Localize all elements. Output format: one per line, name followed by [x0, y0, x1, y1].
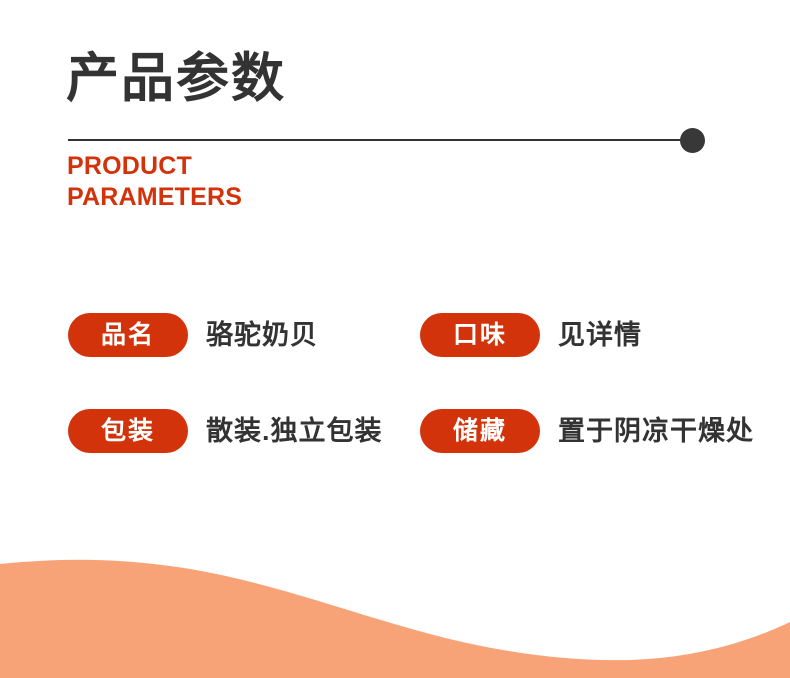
page-subtitle-line-1: PRODUCT [67, 151, 242, 182]
parameter-label-badge: 品名 [68, 313, 188, 357]
parameter-item-chucang: 储藏 置于阴凉干燥处 [420, 407, 754, 455]
parameter-value: 见详情 [558, 322, 642, 349]
parameter-value: 散装.独立包装 [206, 418, 383, 445]
parameter-row: 包装 散装.独立包装 储藏 置于阴凉干燥处 [0, 407, 790, 455]
parameter-label-badge: 储藏 [420, 409, 540, 453]
page-title: 产品参数 [66, 52, 286, 105]
parameter-item-kouwei: 口味 见详情 [420, 311, 642, 359]
wave-shape [0, 560, 790, 678]
page-subtitle-line-2: PARAMETERS [67, 182, 242, 213]
parameter-row: 品名 骆驼奶贝 口味 见详情 [0, 311, 790, 359]
page-subtitle: PRODUCT PARAMETERS [67, 151, 242, 212]
divider-line [68, 139, 694, 141]
parameter-item-baozhuang: 包装 散装.独立包装 [68, 407, 383, 455]
parameter-value: 置于阴凉干燥处 [558, 418, 754, 445]
parameter-item-pinming: 品名 骆驼奶贝 [68, 311, 318, 359]
parameter-label-badge: 包装 [68, 409, 188, 453]
bottom-wave-decoration [0, 518, 790, 678]
parameter-label-badge: 口味 [420, 313, 540, 357]
page-header: 产品参数 PRODUCT PARAMETERS [0, 0, 790, 230]
parameter-value: 骆驼奶贝 [206, 322, 318, 349]
divider-dot-icon [680, 128, 705, 153]
